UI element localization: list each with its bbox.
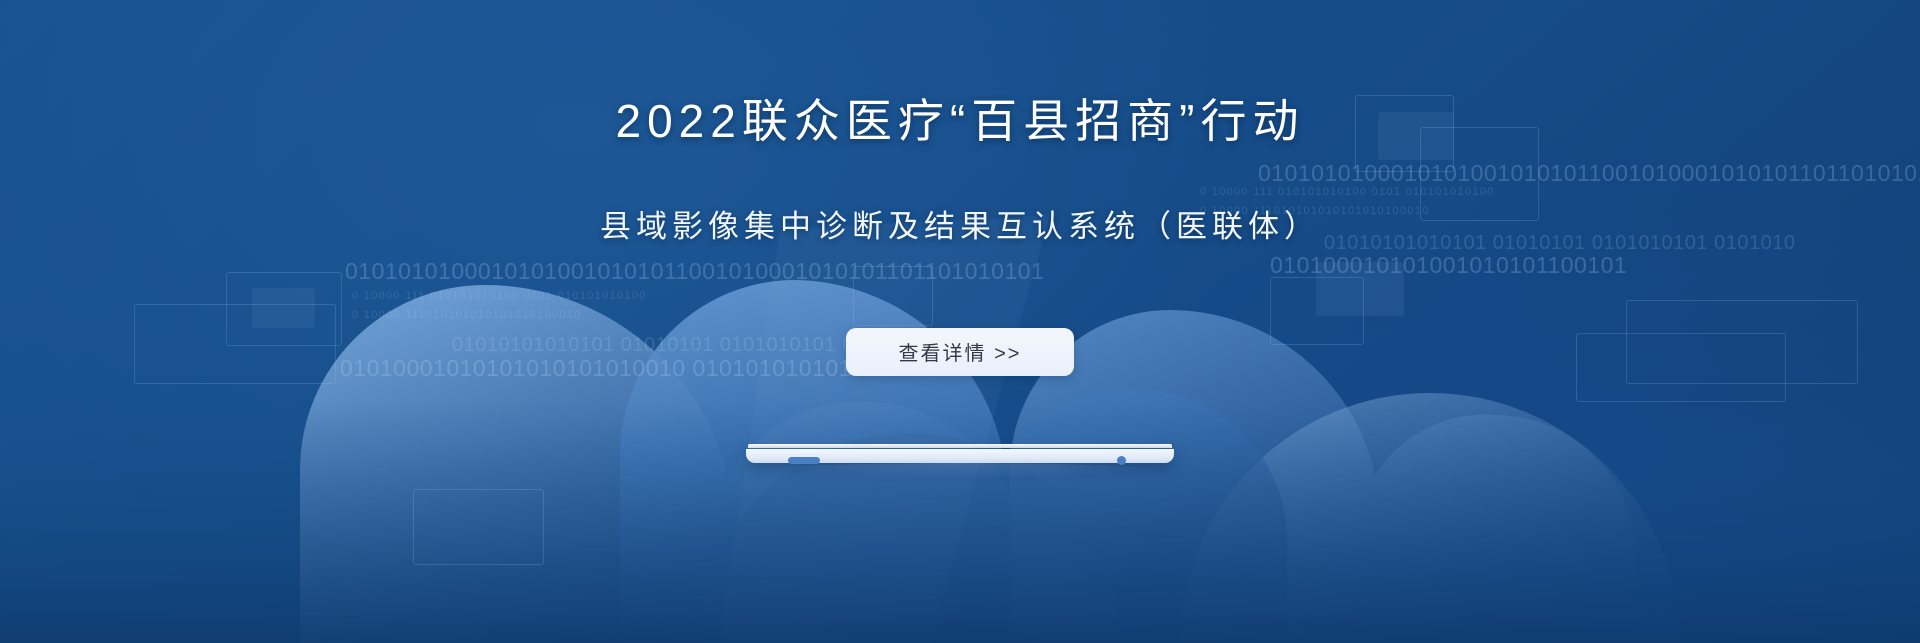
laptop-deck (746, 449, 1174, 463)
laptop-glow-shadow (758, 463, 1162, 479)
banner-subtitle: 县域影像集中诊断及结果互认系统（医联体） (600, 211, 1320, 242)
laptop-indicator-dot (1117, 456, 1126, 465)
banner-content: 2022联众医疗“百县招商”行动 县域影像集中诊断及结果互认系统（医联体） 查看… (0, 0, 1920, 643)
view-details-button[interactable]: 查看详情 >> (846, 328, 1074, 376)
promo-banner: 0101010100010101001010101100101000101010… (0, 0, 1920, 643)
banner-title: 2022联众医疗“百县招商”行动 (616, 98, 1305, 144)
laptop-screen-lip (748, 444, 1172, 448)
laptop-trackpad-notch (788, 457, 820, 464)
laptop-device (746, 444, 1174, 468)
